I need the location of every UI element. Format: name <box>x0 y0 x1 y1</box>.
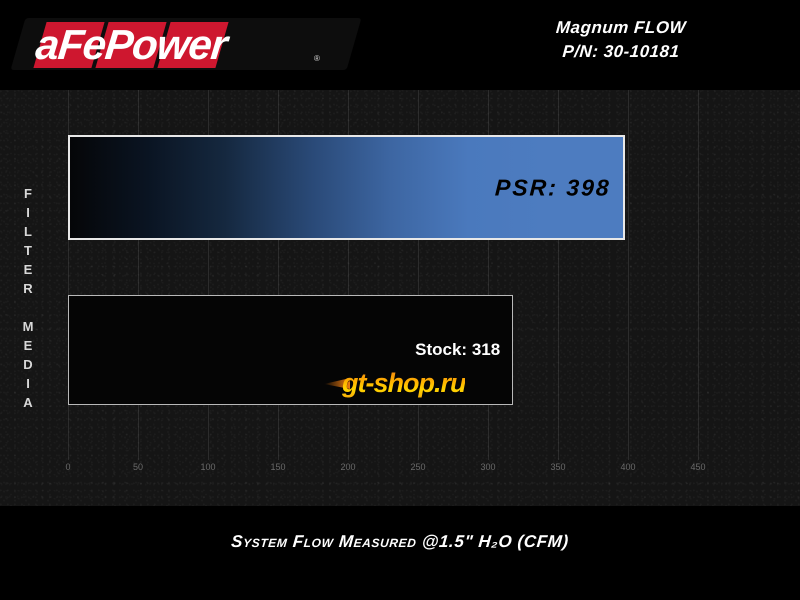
x-tick: 50 <box>133 462 143 472</box>
x-tick: 300 <box>480 462 495 472</box>
flow-chart-page: aFePower ® Magnum FLOW P/N: 30-10181 FIL… <box>0 0 800 600</box>
x-tick: 100 <box>200 462 215 472</box>
x-tick: 150 <box>270 462 285 472</box>
bar-psr: PSR: 398 <box>68 135 625 240</box>
chart-plot-area: FILTER MEDIA PSR: 398 Stock: 318 gt-shop… <box>0 90 800 506</box>
x-tick: 200 <box>340 462 355 472</box>
x-tick: 350 <box>550 462 565 472</box>
x-tick: 250 <box>410 462 425 472</box>
product-family: Magnum FLOW <box>455 16 787 40</box>
gridline <box>628 90 629 460</box>
gridline <box>698 90 699 460</box>
x-tick: 450 <box>690 462 705 472</box>
footer-bar: System Flow Measured @1.5" H₂O (CFM) <box>0 506 800 600</box>
x-axis-caption: System Flow Measured @1.5" H₂O (CFM) <box>0 532 800 552</box>
x-tick: 400 <box>620 462 635 472</box>
product-title-block: Magnum FLOW P/N: 30-10181 <box>456 16 786 64</box>
product-part-number: P/N: 30-10181 <box>455 40 787 64</box>
registered-trademark-icon: ® <box>314 54 320 63</box>
x-axis-ticks: 0 50 100 150 200 250 300 350 400 450 <box>0 462 800 482</box>
logo-wordmark: aFePower <box>33 20 358 70</box>
bar-label-psr: PSR: 398 <box>495 174 612 201</box>
y-axis-label: FILTER MEDIA <box>16 210 40 390</box>
x-tick: 0 <box>65 462 70 472</box>
afe-power-logo: aFePower ® <box>18 12 358 74</box>
site-watermark: gt-shop.ru <box>342 368 465 399</box>
bar-label-stock: Stock: 318 <box>415 340 500 360</box>
header-bar: aFePower ® Magnum FLOW P/N: 30-10181 <box>0 0 800 90</box>
